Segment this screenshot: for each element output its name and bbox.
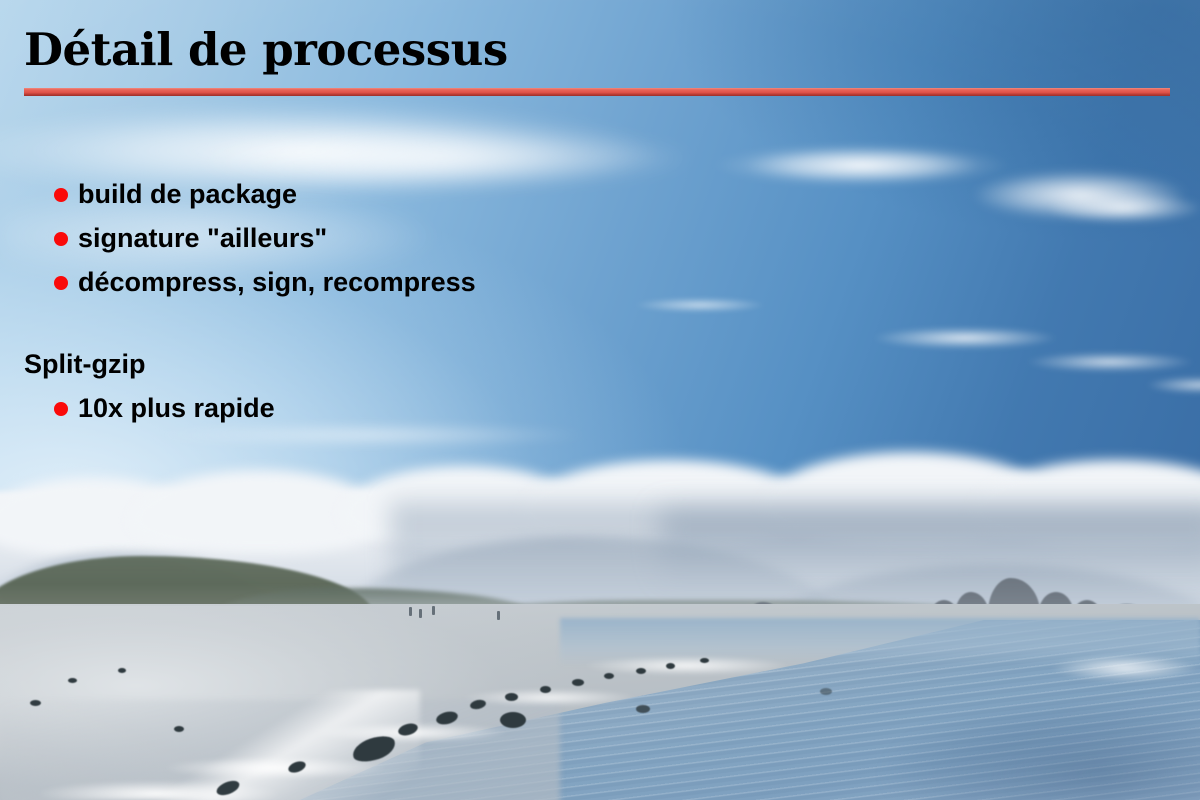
shore-debris — [30, 700, 41, 706]
section-heading-label: Split-gzip — [24, 349, 145, 379]
shore-debris — [118, 668, 126, 673]
distant-person — [409, 607, 412, 616]
shore-debris — [540, 686, 551, 693]
shore-debris — [174, 726, 184, 732]
bullet-item-label: 10x plus rapide — [78, 393, 275, 423]
shore-debris — [604, 673, 614, 679]
bullet-item-label: décompress, sign, recompress — [78, 267, 476, 297]
bullet-item: signature "ailleurs" — [24, 216, 824, 260]
slide-body: build de package signature "ailleurs" dé… — [24, 172, 824, 430]
shore-debris — [636, 668, 646, 674]
bullet-item: décompress, sign, recompress — [24, 260, 824, 304]
bullet-item: 10x plus rapide — [24, 386, 824, 430]
title-underline-rule — [24, 88, 1170, 96]
bullet-item-label: build de package — [78, 179, 297, 209]
shore-debris — [636, 705, 650, 713]
bullet-dot-icon — [54, 232, 68, 246]
slide-title: Détail de processus — [24, 26, 508, 73]
distant-person — [497, 611, 500, 620]
shore-debris — [505, 693, 518, 701]
shore-debris — [572, 679, 584, 686]
shore-debris — [500, 712, 526, 728]
cloud-wisp — [1030, 185, 1200, 231]
wave-foam — [1040, 640, 1200, 710]
distant-person — [432, 606, 435, 615]
bullet-item: build de package — [24, 172, 824, 216]
content-spacer — [24, 304, 824, 342]
shore-debris — [820, 688, 832, 695]
bullet-item-label: signature "ailleurs" — [78, 223, 327, 253]
distant-person — [419, 609, 422, 618]
bullet-dot-icon — [54, 402, 68, 416]
cloud-wisp — [1130, 370, 1200, 400]
bullet-dot-icon — [54, 188, 68, 202]
bullet-dot-icon — [54, 276, 68, 290]
shore-debris — [68, 678, 77, 683]
shore-debris — [700, 658, 709, 663]
shore-debris — [666, 663, 675, 669]
section-heading: Split-gzip — [24, 342, 824, 386]
presentation-slide: Détail de processus build de package sig… — [0, 0, 1200, 800]
